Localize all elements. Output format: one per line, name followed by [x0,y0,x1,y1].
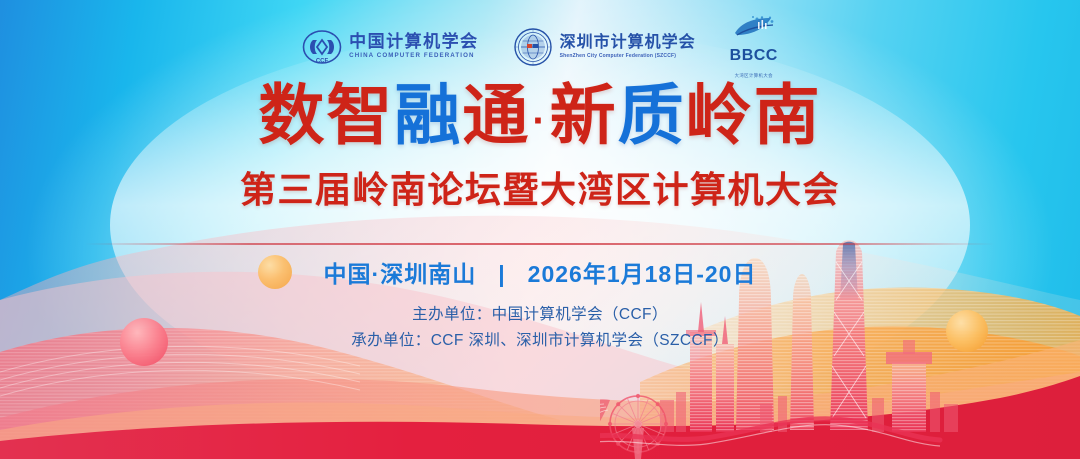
ferris-wheel-icon [566,394,940,459]
shell-pavilion-icon [579,399,610,434]
logo-bbcc-word: BBCC [730,48,778,64]
svg-text:CCF: CCF [316,58,329,64]
logo-szccf-en: ShenZhen City Computer Federation (SZCCF… [560,54,696,59]
title-char-6: 质 [618,82,686,148]
title-separator-dot: · [532,101,547,141]
title-char-1: 数 [258,82,326,148]
event-dates: 2026年1月18日-20日 [528,261,757,287]
title-char-3: 融 [394,82,462,148]
logo-szccf-cn: 深圳市计算机学会 [560,35,696,51]
logo-ccf-cn: 中国计算机学会 [349,33,479,50]
ccf-emblem-icon: CCF [302,27,342,67]
title-char-4: 通 [462,82,530,148]
title-char-8: 南 [754,82,822,148]
event-location: 中国·深圳南山 [324,261,477,287]
organizer-host: 主办单位：中国计算机学会（CCF） [0,302,1080,328]
title-char-7: 岭 [686,82,754,148]
bbcc-wave-icon [731,14,777,40]
szccf-globe-icon [513,27,553,67]
bridge-ribbon [566,419,940,446]
title-char-5: 新 [550,82,618,148]
logo-ccf: CCF 中国计算机学会 CHINA COMPUTER FEDERATION [302,27,479,67]
organizers: 主办单位：中国计算机学会（CCF） 承办单位：CCF 深圳、深圳市计算机学会（S… [0,302,1080,355]
meta-separator: | [498,263,505,286]
title-char-2: 智 [326,82,394,148]
page-subtitle: 第三届岭南论坛暨大湾区计算机大会 [0,172,1080,208]
logo-bbcc: BBCC 大湾区计算机大会 [730,14,778,79]
logo-szccf: 深圳市计算机学会 ShenZhen City Computer Federati… [513,27,696,67]
event-meta: 中国·深圳南山|2026年1月18日-20日 [0,263,1080,286]
logo-ccf-en: CHINA COMPUTER FEDERATION [349,53,479,59]
divider [85,243,995,245]
page-title: 数智融通·新质岭南 [0,82,1080,148]
conference-banner: CCF 中国计算机学会 CHINA COMPUTER FEDERATION [0,0,1080,459]
organizer-co-host: 承办单位：CCF 深圳、深圳市计算机学会（SZCCF） [0,328,1080,354]
logo-row: CCF 中国计算机学会 CHINA COMPUTER FEDERATION [0,14,1080,79]
